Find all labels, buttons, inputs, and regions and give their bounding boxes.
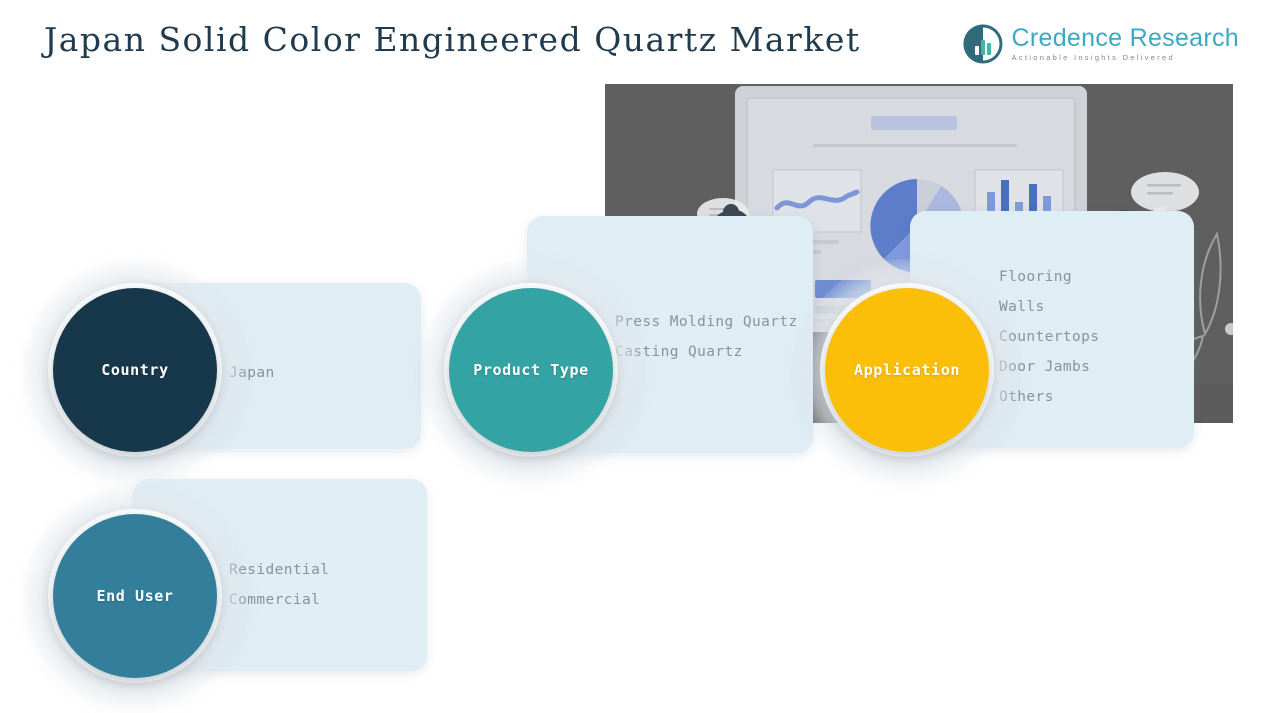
segment-label-country: Country bbox=[101, 361, 168, 379]
list-item: Flooring bbox=[999, 262, 1099, 292]
segment-badge-application[interactable]: Application bbox=[796, 259, 1018, 481]
page-title: Japan Solid Color Engineered Quartz Mark… bbox=[44, 20, 861, 59]
brand-logo: Credence Research Actionable Insights De… bbox=[963, 24, 1239, 64]
segment-label-end-user: End User bbox=[96, 587, 173, 605]
segment-disc-application: Application bbox=[825, 288, 989, 452]
segment-badge-country[interactable]: Country bbox=[24, 259, 246, 481]
brand-name: Credence Research bbox=[1012, 24, 1239, 52]
list-item: Casting Quartz bbox=[615, 337, 798, 367]
segment-items-product-type: Press Molding Quartz Casting Quartz bbox=[615, 307, 798, 367]
segment-label-application: Application bbox=[854, 361, 960, 379]
segment-disc-end-user: End User bbox=[53, 514, 217, 678]
brand-tagline: Actionable Insights Delivered bbox=[1012, 54, 1239, 62]
list-item: Walls bbox=[999, 292, 1099, 322]
bar-chart-circle-icon bbox=[963, 24, 1003, 64]
segment-disc-product-type: Product Type bbox=[449, 288, 613, 452]
segment-badge-end-user[interactable]: End User bbox=[24, 485, 246, 707]
list-item: Press Molding Quartz bbox=[615, 307, 798, 337]
infographic-canvas: Japan Solid Color Engineered Quartz Mark… bbox=[0, 0, 1267, 713]
segment-badge-product-type[interactable]: Product Type bbox=[420, 259, 642, 481]
segment-disc-country: Country bbox=[53, 288, 217, 452]
segment-label-product-type: Product Type bbox=[473, 361, 589, 379]
